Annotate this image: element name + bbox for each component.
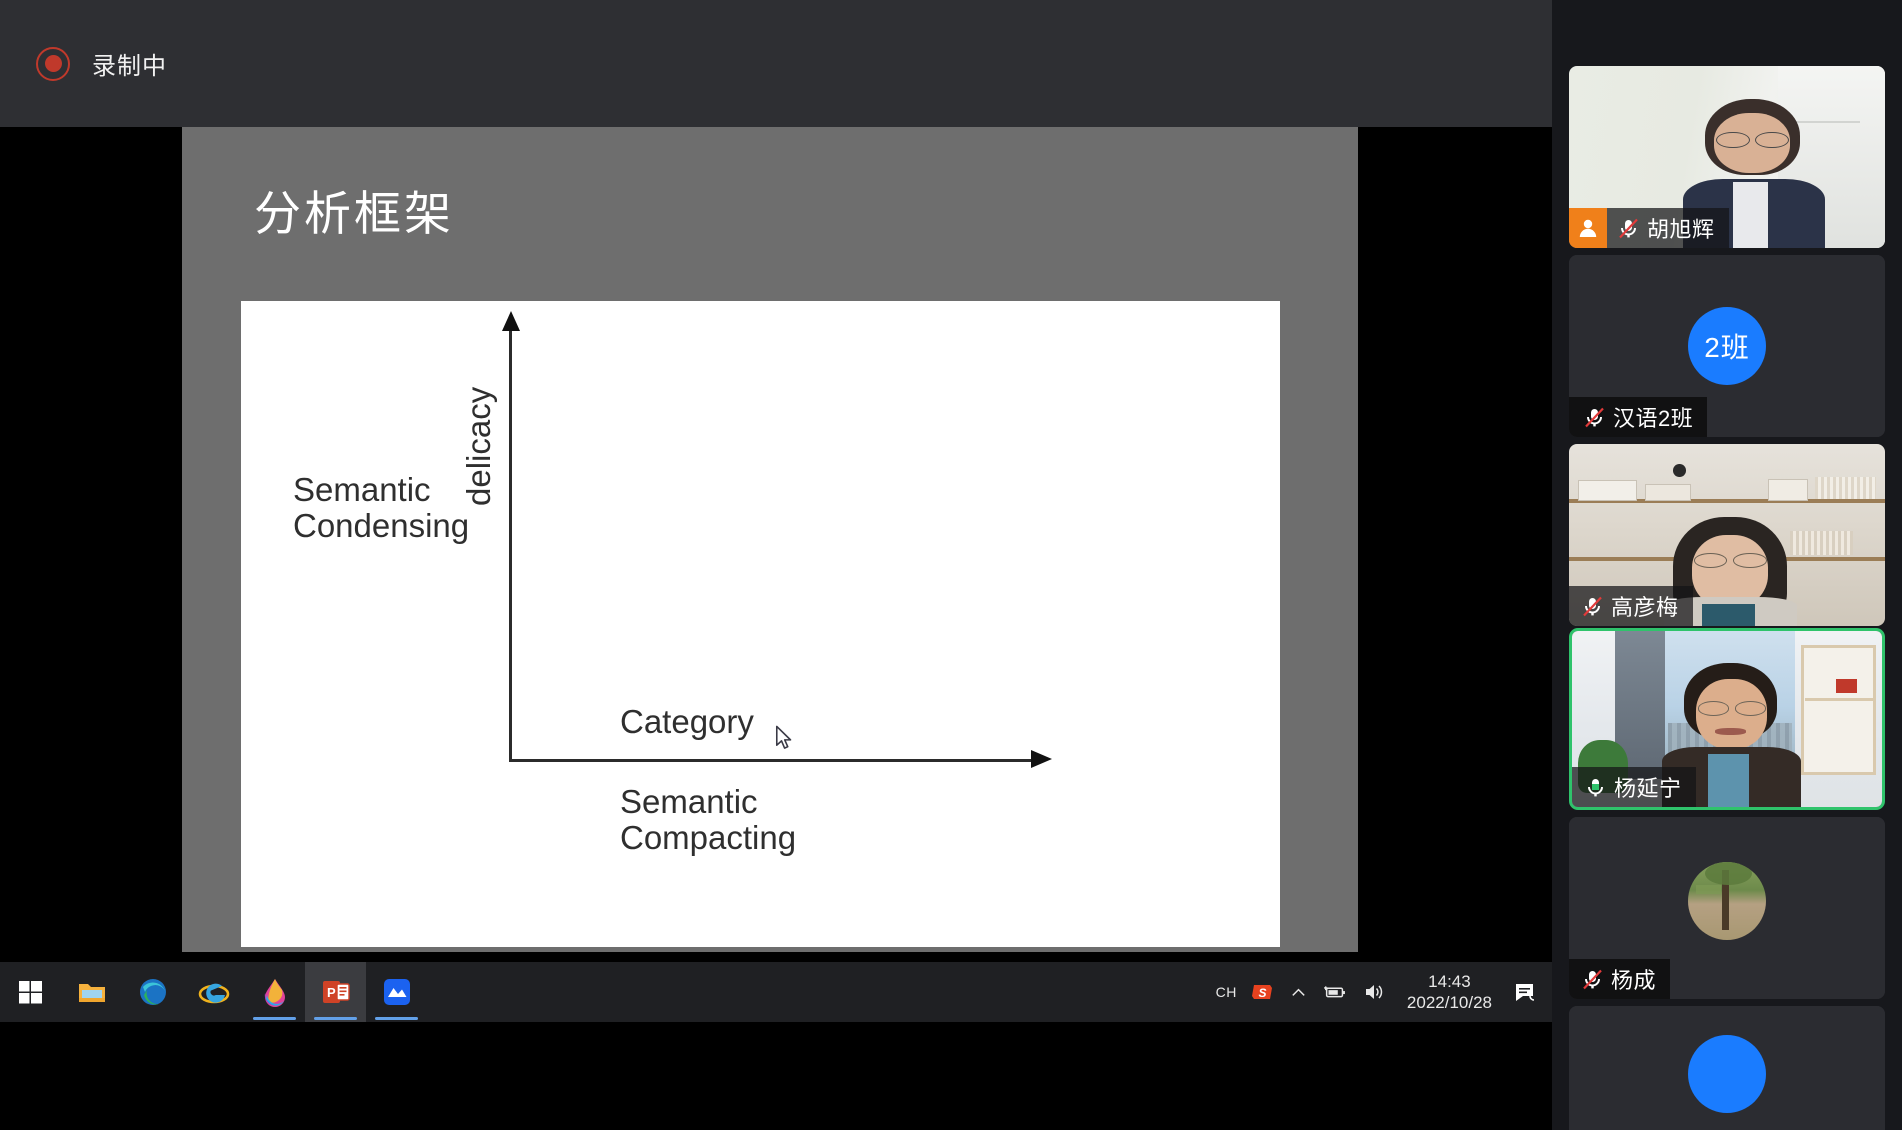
x-axis-label: Category bbox=[620, 704, 754, 740]
system-tray: CH S bbox=[1209, 962, 1552, 1022]
mic-muted-icon bbox=[1611, 208, 1645, 248]
taskbar-running-indicator bbox=[314, 1017, 357, 1020]
recording-bar: 录制中 bbox=[0, 0, 1552, 127]
share-canvas: 分析框架 SemanticCondensing delicacy Categor… bbox=[0, 127, 1552, 1130]
participant-tile-huxuhui[interactable]: 胡旭辉 bbox=[1569, 66, 1885, 248]
participant-tile-yangyanning[interactable]: 杨延宁 bbox=[1569, 628, 1885, 810]
participant-tile-partial[interactable] bbox=[1569, 1006, 1885, 1130]
notification-icon[interactable] bbox=[1506, 962, 1546, 1022]
participant-name-plate: 杨成 bbox=[1569, 959, 1670, 999]
participant-tile-yangcheng[interactable]: 杨成 bbox=[1569, 817, 1885, 999]
participant-name: 汉语2班 bbox=[1613, 401, 1693, 433]
avatar: 2班 bbox=[1688, 307, 1766, 385]
participant-name-plate: 胡旭辉 bbox=[1569, 208, 1729, 248]
sogou-input-icon[interactable]: S bbox=[1244, 962, 1282, 1022]
avatar bbox=[1688, 862, 1766, 940]
mic-muted-icon bbox=[1577, 397, 1611, 437]
taskbar-app-list: P bbox=[0, 962, 427, 1022]
participant-name-plate: 汉语2班 bbox=[1569, 397, 1707, 437]
chevron-up-icon[interactable] bbox=[1282, 962, 1315, 1022]
participant-video-off bbox=[1569, 1006, 1885, 1130]
taskbar-running-indicator bbox=[253, 1017, 296, 1020]
semantic-condensing-line2: Condensing bbox=[293, 507, 469, 544]
participant-tile-gaoyanmei[interactable]: 高彦梅 bbox=[1569, 444, 1885, 626]
taskbar-start-button[interactable] bbox=[0, 962, 61, 1022]
clock[interactable]: 14:43 2022/10/28 bbox=[1393, 962, 1506, 1022]
droplet-icon bbox=[259, 976, 291, 1008]
recording-label: 录制中 bbox=[92, 46, 167, 81]
powerpoint-icon: P bbox=[320, 976, 352, 1008]
windows-taskbar[interactable]: P bbox=[0, 962, 1552, 1022]
semantic-compacting-label: SemanticCompacting bbox=[620, 784, 796, 855]
taskbar-powerpoint[interactable]: P bbox=[305, 962, 366, 1022]
folder-icon bbox=[76, 976, 108, 1008]
semantic-compacting-line2: Compacting bbox=[620, 819, 796, 856]
windows-logo-icon bbox=[15, 976, 47, 1008]
tencent-meeting-icon bbox=[381, 976, 413, 1008]
participant-name: 杨成 bbox=[1611, 963, 1656, 995]
taskbar-microsoft-edge[interactable] bbox=[122, 962, 183, 1022]
diagram-figure: SemanticCondensing delicacy Category Sem… bbox=[241, 301, 1280, 947]
clock-time: 14:43 bbox=[1428, 971, 1471, 992]
semantic-condensing-line1: Semantic bbox=[293, 471, 431, 508]
participant-name-plate: 杨延宁 bbox=[1572, 767, 1696, 807]
x-axis-line bbox=[509, 759, 1033, 762]
meeting-window: 录制中 分析框架 SemanticCondensing delicacy Cat… bbox=[0, 0, 1902, 1130]
participant-name-plate: 高彦梅 bbox=[1569, 586, 1693, 626]
participant-name: 高彦梅 bbox=[1611, 590, 1679, 622]
taskbar-internet-explorer[interactable] bbox=[183, 962, 244, 1022]
y-axis-label: delicacy bbox=[461, 387, 497, 506]
mic-muted-icon bbox=[1575, 586, 1609, 626]
y-axis-line bbox=[509, 329, 512, 762]
svg-text:P: P bbox=[327, 985, 336, 1000]
record-dot-icon bbox=[36, 47, 70, 81]
taskbar-color-droplet-app[interactable] bbox=[244, 962, 305, 1022]
edge-icon bbox=[137, 976, 169, 1008]
participant-filmstrip[interactable]: 胡旭辉 2班 汉语2班 bbox=[1552, 0, 1902, 1130]
taskbar-running-indicator bbox=[375, 1017, 418, 1020]
presentation-slide: 分析框架 SemanticCondensing delicacy Categor… bbox=[182, 127, 1358, 952]
shared-screen-region[interactable]: 录制中 分析框架 SemanticCondensing delicacy Cat… bbox=[0, 0, 1552, 1130]
avatar bbox=[1688, 1035, 1766, 1113]
y-axis-arrow-icon bbox=[502, 311, 520, 331]
internet-explorer-icon bbox=[198, 976, 230, 1008]
taskbar-tencent-meeting[interactable] bbox=[366, 962, 427, 1022]
participant-name: 杨延宁 bbox=[1614, 771, 1682, 803]
mic-muted-icon bbox=[1575, 959, 1609, 999]
svg-text:S: S bbox=[1258, 986, 1266, 1000]
participant-name: 胡旭辉 bbox=[1647, 212, 1715, 244]
volume-icon[interactable] bbox=[1355, 962, 1393, 1022]
semantic-condensing-label: SemanticCondensing bbox=[293, 472, 469, 543]
slide-title: 分析框架 bbox=[254, 175, 454, 244]
mic-active-icon bbox=[1578, 767, 1612, 807]
battery-charging-icon[interactable] bbox=[1315, 962, 1355, 1022]
ime-indicator[interactable]: CH bbox=[1209, 962, 1244, 1022]
host-badge-icon bbox=[1569, 208, 1607, 248]
x-axis-arrow-icon bbox=[1031, 750, 1052, 768]
semantic-compacting-line1: Semantic bbox=[620, 783, 758, 820]
clock-date: 2022/10/28 bbox=[1407, 992, 1492, 1013]
participant-tile-hanyu2ban[interactable]: 2班 汉语2班 bbox=[1569, 255, 1885, 437]
taskbar-file-explorer[interactable] bbox=[61, 962, 122, 1022]
avatar-initials: 2班 bbox=[1704, 326, 1750, 366]
